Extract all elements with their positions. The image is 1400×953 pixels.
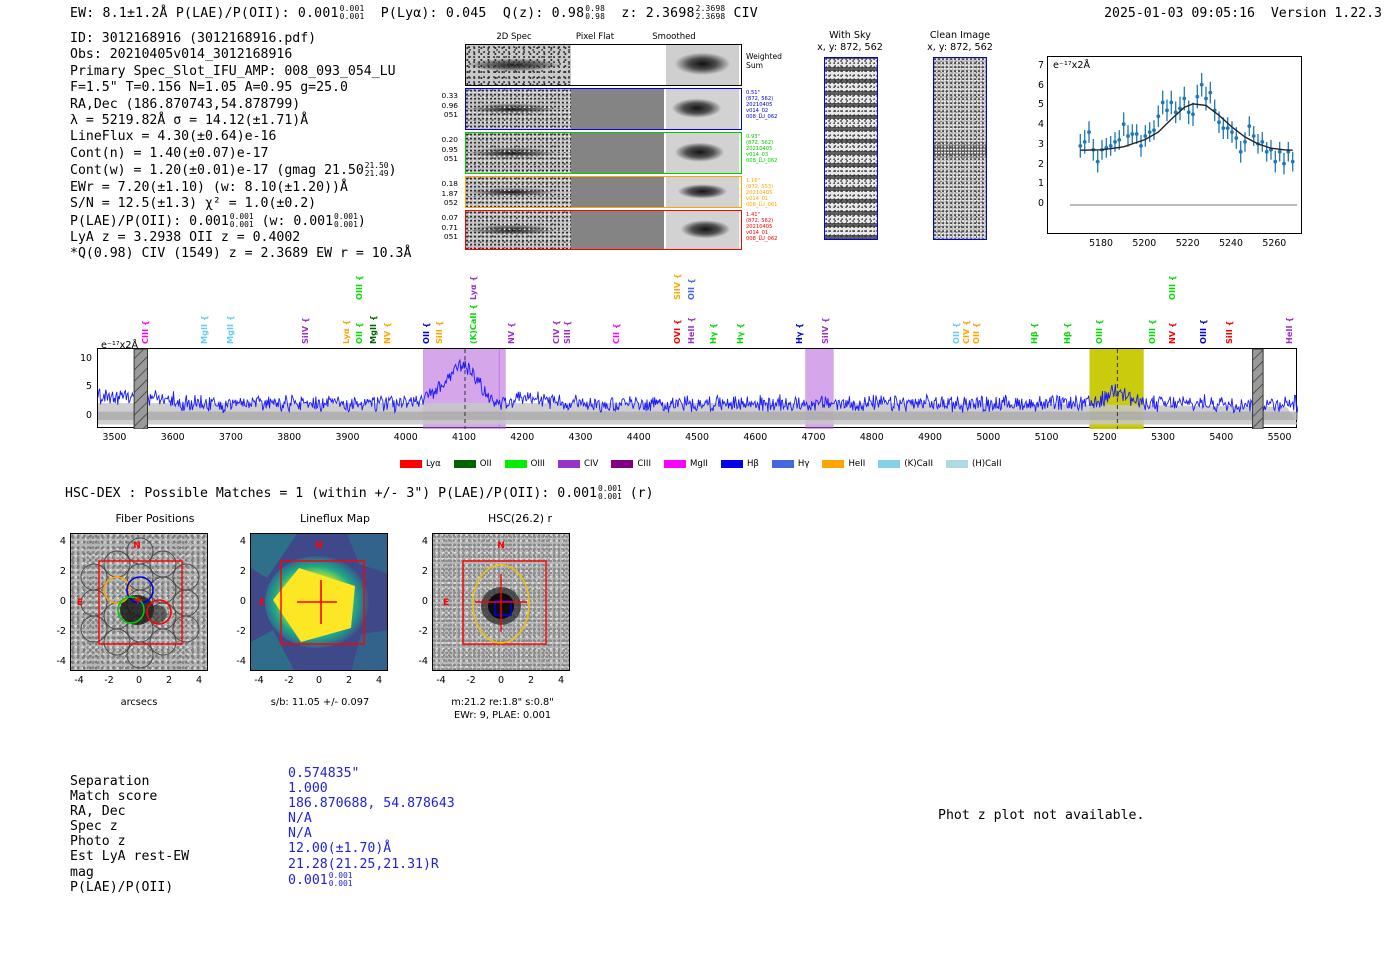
lineflux-map-ytick: -2 <box>224 626 246 637</box>
spec2d-fiber-2dspec <box>466 133 571 173</box>
match-table-key: Match score <box>70 789 189 804</box>
emission-line-label: (K)CaII { <box>468 304 478 344</box>
lineflux-map-xtick: 4 <box>365 675 393 686</box>
hsc-r-image: N E <box>432 533 570 671</box>
match-table-key: RA, Dec <box>70 804 189 819</box>
fiber-positions-xtick: -4 <box>65 675 93 686</box>
info-gmag-frac: 21.5021.49 <box>365 162 389 178</box>
spec2d-left-value: 0.95 <box>420 145 458 155</box>
spec2d-left-value: 051 <box>420 154 458 164</box>
spec2d-right-value: 008_LU_062 <box>746 236 806 242</box>
spec2d-left-value: 0.96 <box>420 101 458 111</box>
info-plae: P(LAE)/P(OII): 0.0010.0010.001 (w: 0.001… <box>70 213 411 230</box>
match-table-value: 1.000 <box>288 781 455 796</box>
timestamp: 2025-01-03 09:05:16 <box>1104 6 1255 21</box>
legend-swatch <box>664 460 686 468</box>
panel-title-hsc-r: HSC(26.2) r <box>415 513 625 526</box>
spec2d-fiber-right-meta: 0.51"(872, 562)20210405v014_02008_LU_062 <box>746 90 806 120</box>
spec2d-left-value: 1.87 <box>420 189 458 199</box>
info-snr-chi2: S/N = 12.5(±1.3) χ² = 1.0(±0.2) <box>70 196 411 212</box>
legend-swatch <box>558 460 580 468</box>
cutout-title-withsky: With Skyx, y: 872, 562 <box>800 30 900 54</box>
emission-line-label: Hβ { <box>1062 323 1072 344</box>
legend-swatch <box>611 460 633 468</box>
main-spectrum-xtick: 3600 <box>153 432 193 443</box>
emission-line-label: Lyα { <box>468 276 478 300</box>
info-ewr: EWr = 7.20(±1.10) (w: 8.10(±1.20))Å <box>70 180 411 196</box>
header-plya: P(Lyα): 0.045 <box>381 6 487 21</box>
lineflux-map-xtick: 2 <box>335 675 363 686</box>
info-primary-slot: Primary Spec_Slot_IFU_AMP: 008_093_054_L… <box>70 64 411 80</box>
header-summary: EW: 8.1±1.2Å P(LAE)/P(OII): 0.0010.0010.… <box>70 5 758 21</box>
hsc-r-ytick: -2 <box>406 626 428 637</box>
info-id: ID: 3012168916 (3012168916.pdf) <box>70 31 411 47</box>
hscdex-header-frac: 0.0010.001 <box>598 485 622 501</box>
line-profile-ytick: 4 <box>1030 119 1044 130</box>
legend-label: Lyα <box>426 459 441 469</box>
main-spectrum-xtick: 5400 <box>1201 432 1241 443</box>
emission-line-label: SiII { <box>434 321 444 344</box>
spec2d-fiber-row <box>465 210 742 250</box>
spec2d-fiber-right-meta: 1.16"(872, 553)20210405v014_01008_LU_061 <box>746 178 806 208</box>
spec2d-col-title-smoothed: Smoothed <box>639 32 709 42</box>
spec2d-fiber-left-stats: 0.200.95051 <box>420 135 458 164</box>
legend-label: CIII <box>637 459 651 469</box>
spec2d-left-value: 0.20 <box>420 135 458 145</box>
match-table-key: Spec z <box>70 819 189 834</box>
main-spectrum-unit-label: e⁻¹⁷x2Å <box>101 340 138 351</box>
spec2d-left-value: 052 <box>420 198 458 208</box>
hsc-r-xtick: -2 <box>457 675 485 686</box>
fiber-positions-overlay: N E <box>71 534 208 671</box>
photz-note: Phot z plot not available. <box>938 808 1144 823</box>
emission-line-label: OII { <box>421 322 431 344</box>
hsc-r-caption: m:21.2 re:1.8" s:0.8" <box>425 697 580 710</box>
line-profile-xtick: 5180 <box>1085 238 1117 249</box>
main-spectrum-xtick: 3800 <box>269 432 309 443</box>
main-spectrum-xtick: 4900 <box>910 432 950 443</box>
hscdex-header-text: HSC-DEX : Possible Matches = 1 (within +… <box>65 486 597 501</box>
info-cont-w: Cont(w) = 1.20(±0.01)e-17 (gmag 21.5021.… <box>70 162 411 179</box>
timestamp-version: 2025-01-03 09:05:16 Version 1.22.3 <box>1104 6 1382 21</box>
legend-label: (H)CaII <box>972 459 1002 469</box>
match-table-value: N/A <box>288 826 455 841</box>
spec2d-col-title-pixelflat: Pixel Flat <box>560 32 630 42</box>
emission-line-label: HeII { <box>1284 317 1294 344</box>
emission-line-label: MgII { <box>225 315 235 344</box>
fiber-positions-xlabel: arcsecs <box>70 697 208 710</box>
fiber-positions-xtick: 2 <box>155 675 183 686</box>
fiber-positions-ytick: -2 <box>44 626 66 637</box>
panel-title-fiber-positions: Fiber Positions <box>55 513 255 526</box>
emission-line-label: HeII { <box>686 317 696 344</box>
main-spectrum-xtick: 5300 <box>1143 432 1183 443</box>
spec2d-right-value: 008_LU_061 <box>746 202 806 208</box>
emission-line-label: OII { <box>951 322 961 344</box>
spec2d-fiber-smoothed <box>666 89 739 129</box>
legend-label: OII <box>480 459 492 469</box>
legend-label: Hβ <box>747 459 759 469</box>
info-params: F=1.5" T=0.156 N=1.05 A=0.95 g=25.0 <box>70 80 411 96</box>
legend-swatch <box>721 460 743 468</box>
header-z-suffix: CIV <box>734 6 758 21</box>
emission-line-label: CIII { <box>140 320 150 344</box>
spec2d-fiber-right-meta: 0.93"(872, 562)20210405v014_03008_LU_062 <box>746 134 806 164</box>
hscdex-header: HSC-DEX : Possible Matches = 1 (within +… <box>65 485 654 501</box>
fiber-positions-ytick: -4 <box>44 656 66 667</box>
info-lineflux: LineFlux = 4.30(±0.64)e-16 <box>70 129 411 145</box>
line-profile-ytick: 2 <box>1030 159 1044 170</box>
header-plae-frac: 0.0010.001 <box>340 5 365 21</box>
spec2d-right-value: 008_LU_062 <box>746 114 806 120</box>
legend-swatch <box>454 460 476 468</box>
main-spectrum-plot <box>97 348 1297 428</box>
main-spectrum-xtick: 4400 <box>619 432 659 443</box>
legend-swatch <box>822 460 844 468</box>
emission-line-label: MgII { <box>199 315 209 344</box>
spec2d-fiber-right-meta: 1.41"(872, 562)20210405v014_01008_LU_062 <box>746 212 806 242</box>
fiber-positions-image: N E <box>70 533 208 671</box>
hsc-r-ytick: 2 <box>406 566 428 577</box>
emission-line-label: Hγ { <box>708 323 718 344</box>
main-spectrum-ytick: 5 <box>72 381 92 392</box>
spec2d-weighted-sum-label: WeightedSum <box>746 52 782 70</box>
legend-label: (K)CaII <box>904 459 933 469</box>
main-spectrum-xtick: 4800 <box>852 432 892 443</box>
main-spectrum-xtick: 4000 <box>386 432 426 443</box>
legend-swatch <box>772 460 794 468</box>
spec2d-fiber-pixelflat <box>571 89 664 129</box>
spec2d-weighted-smoothed <box>666 45 739 85</box>
main-spectrum-ytick: 0 <box>72 410 92 421</box>
header-z: z: 2.3698 <box>621 6 694 21</box>
lineflux-map-xtick: -2 <box>275 675 303 686</box>
line-profile-xtick: 5260 <box>1258 238 1290 249</box>
emission-line-label: SiIV { <box>820 317 830 344</box>
spec2d-weighted-sum-row <box>465 44 742 86</box>
info-lambda-sigma: λ = 5219.82Å σ = 14.12(±1.71)Å <box>70 113 411 129</box>
spec2d-left-value: 0.18 <box>420 179 458 189</box>
legend-label: HeII <box>848 459 865 469</box>
emission-line-label: OII { <box>686 278 696 300</box>
spec2d-fiber-left-stats: 0.181.87052 <box>420 179 458 208</box>
fiber-positions-xtick: 4 <box>185 675 213 686</box>
match-table-key: Separation <box>70 774 189 789</box>
match-table-key: Photo z <box>70 834 189 849</box>
main-spectrum-xtick: 3700 <box>211 432 251 443</box>
emission-line-label: SiIV { <box>300 317 310 344</box>
line-profile-ytick: 5 <box>1030 99 1044 110</box>
legend-swatch <box>400 460 422 468</box>
match-table-keys: SeparationMatch scoreRA, DecSpec zPhoto … <box>70 774 189 895</box>
line-profile-ytick: 6 <box>1030 80 1044 91</box>
emission-line-label: OIII { <box>354 275 364 300</box>
header-qz: Q(z): 0.98 <box>503 6 584 21</box>
emission-line-label: SiII { <box>562 321 572 344</box>
spec2d-fiber-pixelflat <box>571 133 664 173</box>
spec2d-left-value: 0.07 <box>420 213 458 223</box>
legend-label: CIV <box>584 459 598 469</box>
svg-text:E: E <box>259 598 265 608</box>
emission-line-label: OIII { <box>1094 319 1104 344</box>
line-profile-ytick: 7 <box>1030 60 1044 71</box>
hscdex-header-band: (r) <box>630 486 654 501</box>
spec2d-left-value: 051 <box>420 232 458 242</box>
emission-line-label: OIII { <box>1167 275 1177 300</box>
legend-label: Hγ <box>798 459 810 469</box>
hsc-r-ytick: -4 <box>406 656 428 667</box>
main-spectrum-xtick: 3900 <box>327 432 367 443</box>
match-table-value: 0.574835" <box>288 766 455 781</box>
emission-line-label: OVI { <box>672 319 682 344</box>
legend-swatch <box>946 460 968 468</box>
emission-line-label: NV { <box>506 322 516 344</box>
spec2d-fiber-smoothed <box>666 211 739 249</box>
line-profile-xtick: 5220 <box>1172 238 1204 249</box>
line-profile-xtick: 5200 <box>1128 238 1160 249</box>
main-spectrum-xtick: 4300 <box>560 432 600 443</box>
svg-text:N: N <box>315 541 323 551</box>
emission-line-label: SiIV { <box>672 273 682 300</box>
cutout-clean <box>933 57 987 240</box>
lineflux-map-xtick: 0 <box>305 675 333 686</box>
emission-line-label: OII { <box>971 322 981 344</box>
svg-text:N: N <box>497 541 505 551</box>
emission-line-label: Hβ { <box>1029 323 1039 344</box>
cutout-title-clean: Clean Imagex, y: 872, 562 <box>905 30 1015 54</box>
main-spectrum-xtick: 4500 <box>677 432 717 443</box>
lineflux-map-caption: s/b: 11.05 +/- 0.097 <box>235 697 405 710</box>
match-table-value: 186.870688, 54.878643 <box>288 796 455 811</box>
hsc-r-overlay: N E <box>433 534 570 671</box>
lineflux-map-xtick: -4 <box>245 675 273 686</box>
spec2d-fiber-smoothed <box>666 177 739 207</box>
info-plae-frac: 0.0010.001 <box>230 213 254 229</box>
emission-line-label: OII { <box>354 322 364 344</box>
emission-line-label: Hγ { <box>735 323 745 344</box>
main-spectrum-xtick: 5500 <box>1260 432 1300 443</box>
spec2d-fiber-row <box>465 176 742 208</box>
line-profile-unit-label: e⁻¹⁷x2Å <box>1053 60 1090 71</box>
legend-swatch <box>505 460 527 468</box>
spec2d-left-value: 0.33 <box>420 91 458 101</box>
match-table-key: mag <box>70 865 189 880</box>
main-spectrum-xtick: 3500 <box>94 432 134 443</box>
lineflux-map-image: N E <box>250 533 388 671</box>
match-table-value: 0.0010.0010.001 <box>288 872 455 888</box>
info-cont-n: Cont(n) = 1.40(±0.07)e-17 <box>70 146 411 162</box>
main-spectrum-xtick: 5000 <box>968 432 1008 443</box>
spec2d-fiber-row <box>465 132 742 174</box>
lineflux-map-ytick: 2 <box>224 566 246 577</box>
hsc-r-xtick: 0 <box>487 675 515 686</box>
emission-line-label: SiII { <box>1224 321 1234 344</box>
emission-line-label: NV { <box>1167 322 1177 344</box>
spec2d-col-title-2dspec: 2D Spec <box>479 32 549 42</box>
hsc-r-caption2: EWr: 9, PLAE: 0.001 <box>425 710 580 723</box>
spec2d-fiber-2dspec <box>466 211 571 249</box>
emission-line-label: CIV { <box>551 320 561 344</box>
main-spectrum-xtick: 5100 <box>1027 432 1067 443</box>
spec2d-fiber-smoothed <box>666 133 739 173</box>
hsc-r-xtick: 2 <box>517 675 545 686</box>
compass-n-label: N <box>133 541 141 551</box>
spec2d-right-value: 008_LU_062 <box>746 158 806 164</box>
compass-e-label: E <box>77 598 83 608</box>
emission-line-label: MgII { <box>368 315 378 344</box>
main-spectrum-ytick: 10 <box>72 353 92 364</box>
main-spectrum-svg <box>98 349 1298 429</box>
info-plae-w-frac: 0.0010.001 <box>334 213 358 229</box>
header-qz-frac: 0.980.98 <box>585 5 605 21</box>
fiber-positions-xtick: -2 <box>95 675 123 686</box>
lineflux-map-overlay: N E <box>251 534 388 671</box>
hsc-r-xtick: 4 <box>547 675 575 686</box>
match-plae-value: 0.001 <box>288 873 328 888</box>
fiber-positions-xtick: 0 <box>125 675 153 686</box>
spec2d-fiber-pixelflat <box>571 211 664 249</box>
spec2d-fiber-left-stats: 0.070.71051 <box>420 213 458 242</box>
emission-line-label: OIII { <box>1198 319 1208 344</box>
match-plae-frac: 0.0010.001 <box>329 872 353 888</box>
line-profile-ytick: 3 <box>1030 139 1044 150</box>
lineflux-map-ytick: -4 <box>224 656 246 667</box>
legend-swatch <box>878 460 900 468</box>
spec2d-weighted-pixelflat <box>571 45 664 85</box>
version: Version 1.22.3 <box>1271 6 1382 21</box>
main-spectrum-xtick: 4600 <box>735 432 775 443</box>
line-profile-plot <box>1047 56 1302 234</box>
fiber-positions-ytick: 2 <box>44 566 66 577</box>
spec2d-left-value: 051 <box>420 110 458 120</box>
spec2d-fiber-2dspec <box>466 89 571 129</box>
emission-line-label: CII { <box>611 323 621 344</box>
fiber-positions-ytick: 0 <box>44 596 66 607</box>
lineflux-map-ytick: 4 <box>224 536 246 547</box>
spec2d-fiber-left-stats: 0.330.96051 <box>420 91 458 120</box>
spec2d-fiber-row <box>465 88 742 130</box>
emission-line-label: OIII { <box>1147 319 1157 344</box>
lineflux-map-ytick: 0 <box>224 596 246 607</box>
spec2d-fiber-2dspec <box>466 177 571 207</box>
source-info-block: ID: 3012168916 (3012168916.pdf) Obs: 202… <box>70 31 411 263</box>
cutout-withsky <box>824 57 878 240</box>
hsc-r-ytick: 4 <box>406 536 428 547</box>
line-profile-ytick: 1 <box>1030 178 1044 189</box>
main-spectrum-xtick: 4700 <box>794 432 834 443</box>
match-table-value: 12.00(±1.70)Å <box>288 841 455 856</box>
line-profile-ytick: 0 <box>1030 198 1044 209</box>
spec2d-left-value: 0.71 <box>420 223 458 233</box>
hsc-r-ytick: 0 <box>406 596 428 607</box>
info-q-solution: *Q(0.98) CIV (1549) z = 2.3689 EW r = 10… <box>70 246 411 262</box>
main-spectrum-xtick: 5200 <box>1085 432 1125 443</box>
legend-label: OIII <box>531 459 545 469</box>
match-table-value: N/A <box>288 811 455 826</box>
match-table-value: 21.28(21.25,21.31)R <box>288 857 455 872</box>
main-spectrum-xtick: 4200 <box>502 432 542 443</box>
emission-line-label: CIV { <box>961 320 971 344</box>
spec2d-fiber-pixelflat <box>571 177 664 207</box>
line-profile-xtick: 5240 <box>1215 238 1247 249</box>
match-table-key: P(LAE)/P(OII) <box>70 880 189 895</box>
info-obs: Obs: 20210405v014_3012168916 <box>70 47 411 63</box>
header-z-frac: 2.36982.3698 <box>696 5 726 21</box>
match-table-key: Est LyA rest-EW <box>70 849 189 864</box>
panel-title-lineflux-map: Lineflux Map <box>235 513 435 526</box>
match-table-values: 0.574835"1.000186.870688, 54.878643N/AN/… <box>288 766 455 888</box>
main-spectrum-legend: LyαOIIOIIICIVCIIIMgIIHβHγHeII(K)CaII(H)C… <box>400 453 1015 472</box>
emission-line-label: Lyα { <box>341 320 351 344</box>
hsc-r-xtick: -4 <box>427 675 455 686</box>
svg-text:E: E <box>443 598 449 608</box>
info-radec: RA,Dec (186.870743,54.878799) <box>70 97 411 113</box>
emission-line-label: NV { <box>382 322 392 344</box>
info-z-estimates: LyA z = 3.2938 OII z = 0.4002 <box>70 230 411 246</box>
header-summary-prefix: EW: 8.1±1.2Å P(LAE)/P(OII): 0.001 <box>70 6 339 21</box>
emission-line-label: Hγ { <box>794 323 804 344</box>
legend-label: MgII <box>690 459 708 469</box>
spec2d-weighted-2dspec <box>466 45 571 85</box>
line-profile-svg <box>1048 57 1303 235</box>
fiber-positions-ytick: 4 <box>44 536 66 547</box>
main-spectrum-xtick: 4100 <box>444 432 484 443</box>
